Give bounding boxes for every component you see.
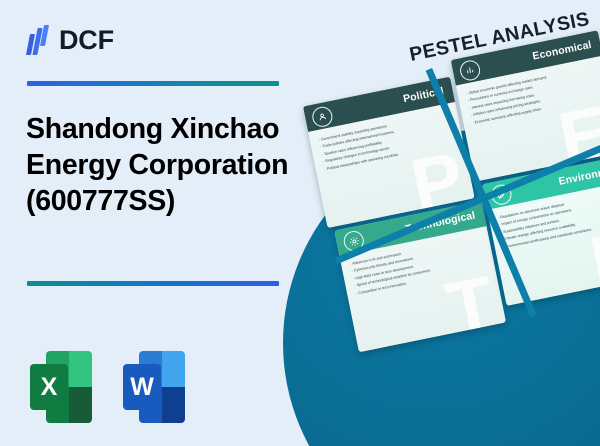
bar-chart-icon <box>458 59 482 83</box>
bar-chart-logo-icon <box>27 25 52 55</box>
pestel-card-grid: Political P - Government stability impac… <box>303 47 600 350</box>
brand-logo[interactable]: DCF <box>27 25 114 55</box>
left-panel: DCF Shandong Xinchao Energy Corporation … <box>0 0 320 446</box>
divider-bottom <box>27 281 279 286</box>
word-file-icon[interactable]: W <box>123 351 185 423</box>
divider-top <box>27 81 279 86</box>
page-root: DCF Shandong Xinchao Energy Corporation … <box>0 0 600 446</box>
file-icon-group: X W <box>30 351 185 423</box>
card-political[interactable]: Political P - Government stability impac… <box>303 77 475 228</box>
brand-name: DCF <box>59 27 114 54</box>
word-letter: W <box>123 364 161 410</box>
excel-letter: X <box>30 364 68 410</box>
page-title: Shandong Xinchao Energy Corporation (600… <box>26 112 294 220</box>
excel-file-icon[interactable]: X <box>30 351 92 423</box>
